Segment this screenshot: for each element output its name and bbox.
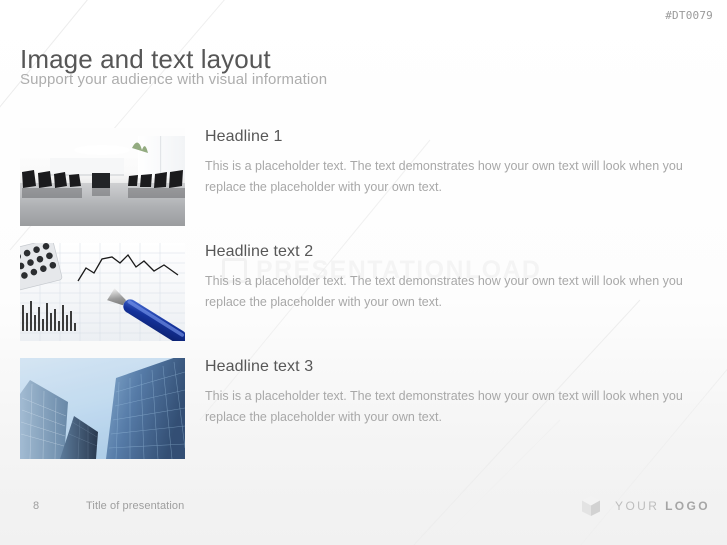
content-row: Headline text 3 This is a placeholder te… xyxy=(20,358,710,456)
row-body-text: This is a placeholder text. The text dem… xyxy=(205,271,683,314)
logo-text-light: YOUR xyxy=(615,499,659,513)
row-body-text: This is a placeholder text. The text dem… xyxy=(205,386,683,429)
skyscrapers-photo[interactable] xyxy=(20,358,185,459)
row-text-block: Headline text 3 This is a placeholder te… xyxy=(205,358,699,429)
content-rows: Headline 1 This is a placeholder text. T… xyxy=(0,0,727,545)
row-headline: Headline 1 xyxy=(205,128,699,146)
conference-room-photo[interactable] xyxy=(20,128,185,226)
content-row: Headline 1 This is a placeholder text. T… xyxy=(20,128,710,226)
logo-text-bold: LOGO xyxy=(665,499,710,513)
row-headline: Headline text 2 xyxy=(205,243,699,261)
row-headline: Headline text 3 xyxy=(205,358,699,376)
footer-logo-text: YOUR LOGO xyxy=(615,499,710,513)
footer-page-number: 8 xyxy=(33,500,39,512)
footer-logo[interactable]: YOUR LOGO xyxy=(578,493,710,519)
cube-icon xyxy=(578,493,604,519)
financial-chart-pen-photo[interactable] xyxy=(20,243,185,341)
row-body-text: This is a placeholder text. The text dem… xyxy=(205,156,683,199)
footer-presentation-title: Title of presentation xyxy=(86,500,184,512)
row-text-block: Headline text 2 This is a placeholder te… xyxy=(205,243,699,314)
slide-canvas: #DT0079 Image and text layout Support yo… xyxy=(0,0,727,545)
row-text-block: Headline 1 This is a placeholder text. T… xyxy=(205,128,699,199)
content-row: Headline text 2 This is a placeholder te… xyxy=(20,243,710,341)
